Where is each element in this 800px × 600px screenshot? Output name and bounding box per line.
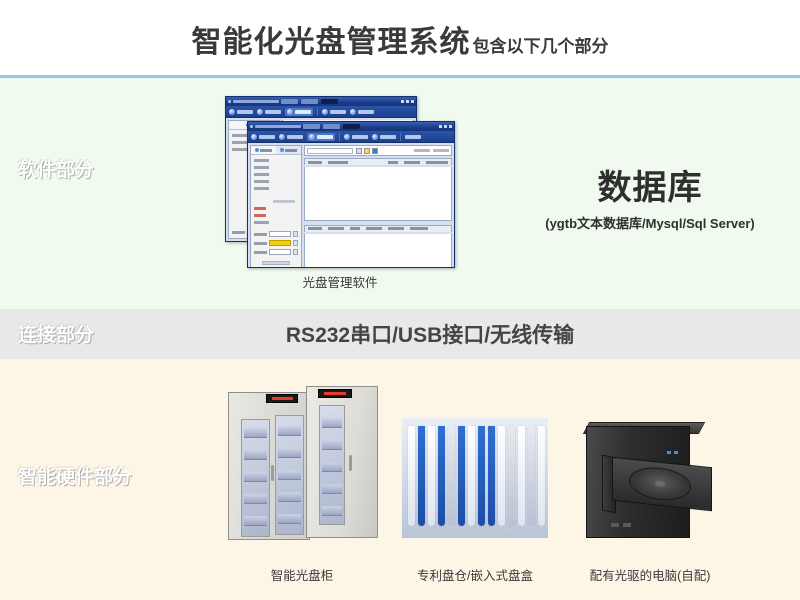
- power-button[interactable]: [611, 523, 619, 527]
- grid-header-top: [304, 158, 452, 165]
- grid-column-header: [404, 161, 420, 164]
- grid-header-bottom: [304, 225, 452, 232]
- panel-field-label-required: [254, 214, 266, 217]
- app-window-frame: [247, 121, 455, 268]
- minimize-icon[interactable]: [439, 125, 442, 128]
- cabinet-shelf: [322, 506, 342, 516]
- cabinet-shelf: [244, 494, 267, 504]
- panel-input-label: [232, 231, 245, 234]
- maximize-icon[interactable]: [406, 100, 409, 103]
- cabinet-handle: [271, 465, 274, 481]
- status-label: [433, 149, 449, 152]
- refresh-icon[interactable]: [372, 148, 378, 154]
- computer-indicator-lights: [667, 451, 678, 454]
- window-controls[interactable]: [439, 125, 452, 128]
- disc-slot: [418, 426, 425, 526]
- toolbar-button[interactable]: [229, 109, 253, 115]
- import-icon: [251, 134, 257, 140]
- window-titlebar: [226, 97, 416, 106]
- window-title-text: [255, 125, 301, 128]
- app-window-front: [247, 121, 455, 268]
- cabinet-right: [306, 386, 378, 538]
- data-grid-top[interactable]: [304, 167, 452, 221]
- cabinet-shelf: [322, 418, 342, 428]
- export-icon: [279, 134, 285, 140]
- grid-column-header: [388, 227, 404, 230]
- panel-field-label: [254, 173, 269, 176]
- window-titlebar: [248, 122, 454, 131]
- panel-field-label: [232, 148, 247, 151]
- toolbar-icon: [322, 109, 328, 115]
- window-tab[interactable]: [281, 99, 298, 104]
- cabinet-glass-door: [275, 415, 304, 535]
- search-icon: [350, 109, 356, 115]
- window-tab-selected[interactable]: [321, 99, 338, 104]
- toolbar-separator: [339, 133, 340, 141]
- computer-front-buttons: [611, 523, 631, 527]
- cabinet-shelf: [244, 450, 267, 460]
- toolbar-button[interactable]: [350, 109, 374, 115]
- drive-spindle: [655, 480, 665, 487]
- folder-icon[interactable]: [364, 148, 370, 154]
- window-icon: [228, 100, 231, 103]
- cabinet-shelf: [322, 484, 342, 494]
- grid-column-header: [328, 227, 344, 230]
- cabinet-shelf: [244, 428, 267, 438]
- cabinet-shelf: [278, 492, 301, 502]
- panel-field-label: [254, 221, 269, 224]
- activity-led-icon: [674, 451, 678, 454]
- toolbar-button-label: [287, 135, 303, 139]
- search-meta-text: [414, 149, 449, 152]
- hardware-caption-cartridge: 专利盘仓/嵌入式盘盒: [395, 565, 555, 584]
- toolbar-button-label: [358, 110, 374, 114]
- search-icon: [372, 134, 378, 140]
- photo-background: [222, 382, 382, 550]
- filter-icon[interactable]: [356, 148, 362, 154]
- toolbar-button-active[interactable]: [307, 133, 335, 141]
- disc-cabinet-photo: [222, 382, 382, 550]
- panel-tabstrip: [251, 146, 301, 155]
- window-content-area: [304, 145, 452, 268]
- grid-column-header: [308, 161, 322, 164]
- record-count-label: [414, 149, 430, 152]
- panel-hint-text: [273, 200, 295, 203]
- cabinet-shelf: [278, 514, 301, 524]
- close-icon[interactable]: [411, 100, 414, 103]
- toolbar-button-search[interactable]: [372, 134, 396, 140]
- cabinet-shelf: [244, 516, 267, 526]
- panel-tab-icon: [255, 148, 259, 152]
- panel-input-row: [254, 249, 298, 255]
- disc-slot: [488, 426, 495, 526]
- panel-input-label: [254, 242, 267, 245]
- toolbar-button-label: [265, 110, 281, 114]
- disc-icon: [309, 134, 315, 140]
- grid-column-header: [366, 227, 382, 230]
- disc-slot: [408, 426, 415, 526]
- disc-slot: [468, 426, 475, 526]
- disc-slot: [448, 426, 455, 526]
- page-subtitle: 包含以下几个部分: [473, 32, 609, 57]
- disc-slot: [518, 426, 525, 526]
- window-tab[interactable]: [301, 99, 318, 104]
- panel-field-list: [251, 155, 301, 228]
- minimize-icon[interactable]: [401, 100, 404, 103]
- disc-well: [629, 465, 691, 504]
- hardware-caption-cabinet: 智能光盘柜: [222, 565, 382, 584]
- window-tab[interactable]: [323, 124, 340, 129]
- disc-slot: [528, 426, 535, 526]
- gear-icon: [344, 134, 350, 140]
- toolbar-icon: [229, 109, 235, 115]
- toolbar-button-settings[interactable]: [344, 134, 368, 140]
- search-action-icons: [356, 148, 378, 154]
- toolbar-separator: [400, 133, 401, 141]
- panel-input-group: [251, 228, 301, 258]
- toolbar-button-label: [295, 110, 311, 114]
- search-input[interactable]: [307, 148, 353, 154]
- reset-button[interactable]: [623, 523, 631, 527]
- close-icon[interactable]: [449, 125, 452, 128]
- disc-slot: [498, 426, 505, 526]
- panel-field-label: [232, 134, 247, 137]
- window-title-text: [233, 100, 279, 103]
- window-tab-selected[interactable]: [343, 124, 360, 129]
- window-toolbar: [248, 131, 454, 143]
- window-body: [248, 143, 454, 268]
- toolbar-button-label: [352, 135, 368, 139]
- cabinet-shelf: [278, 470, 301, 480]
- panel-input-row: [254, 231, 298, 237]
- toolbar-button-exit[interactable]: [405, 135, 421, 139]
- toolbar-button-label: [237, 110, 253, 114]
- grid-column-header: [410, 227, 428, 230]
- window-tabstrip: [281, 99, 338, 104]
- header-title-group: 智能化光盘管理系统 包含以下几个部分: [192, 17, 609, 61]
- toolbar-button-label: [317, 135, 333, 139]
- toolbar-button-label: [380, 135, 396, 139]
- panel-picker-button[interactable]: [293, 249, 298, 255]
- grid-column-header: [328, 161, 348, 164]
- hardware-band-label: 智能硬件部分: [18, 462, 132, 489]
- window-controls[interactable]: [401, 100, 414, 103]
- cabinet-shelf: [244, 472, 267, 482]
- panel-tab-label: [260, 149, 272, 152]
- panel-tab-advanced[interactable]: [276, 146, 301, 154]
- cabinet-handle: [349, 455, 352, 471]
- window-tabstrip: [303, 124, 360, 129]
- panel-field-label: [232, 141, 247, 144]
- panel-field-label: [254, 187, 269, 190]
- panel-input-label: [254, 233, 267, 236]
- toolbar-separator: [317, 108, 318, 116]
- software-band-label: 软件部分: [18, 155, 94, 182]
- power-led-icon: [667, 451, 671, 454]
- content-search-bar: [304, 145, 452, 156]
- cabinet-glass-door: [319, 405, 345, 525]
- panel-field-label: [254, 166, 269, 169]
- panel-tab-basic[interactable]: [251, 146, 276, 154]
- led-segment: [272, 397, 293, 400]
- panel-submit-button[interactable]: [262, 261, 290, 265]
- toolbar-button-label: [330, 110, 346, 114]
- page-header: 智能化光盘管理系统 包含以下几个部分: [0, 0, 800, 78]
- panel-text-input[interactable]: [269, 231, 291, 237]
- panel-text-input[interactable]: [269, 249, 291, 255]
- window-toolbar: [226, 106, 416, 118]
- panel-tab-label: [285, 149, 297, 152]
- cabinet-shelf: [322, 440, 342, 450]
- disc-slot: [458, 426, 465, 526]
- cabinet-left: [228, 392, 310, 540]
- maximize-icon[interactable]: [444, 125, 447, 128]
- page-title: 智能化光盘管理系统: [192, 17, 471, 61]
- window-icon: [250, 125, 253, 128]
- infographic-page: 智能化光盘管理系统 包含以下几个部分 软件部分: [0, 0, 800, 600]
- disc-slot: [538, 426, 545, 526]
- panel-tab-icon: [280, 148, 284, 152]
- computer-with-optical-drive-photo: [572, 418, 724, 542]
- hardware-caption-computer: 配有光驱的电脑(自配): [565, 565, 735, 584]
- cabinet-shelf: [278, 426, 301, 436]
- toolbar-button[interactable]: [322, 109, 346, 115]
- database-subtitle: (ygtb文本数据库/Mysql/Sql Server): [500, 213, 800, 232]
- data-grid-bottom[interactable]: [304, 234, 452, 268]
- toolbar-button-active[interactable]: [285, 108, 313, 116]
- panel-input-row-highlighted: [254, 240, 298, 246]
- disc-slot: [428, 426, 435, 526]
- disc-slot: [478, 426, 485, 526]
- led-segment: [324, 392, 346, 395]
- toolbar-button[interactable]: [257, 109, 281, 115]
- toolbar-icon: [257, 109, 263, 115]
- cabinet-led-display: [318, 389, 352, 398]
- database-block: 数据库 (ygtb文本数据库/Mysql/Sql Server): [500, 160, 800, 232]
- database-title: 数据库: [500, 160, 800, 209]
- grid-column-header: [426, 161, 448, 164]
- toolbar-button-export[interactable]: [279, 134, 303, 140]
- toolbar-icon: [287, 109, 293, 115]
- cabinet-led-display: [266, 394, 298, 403]
- cabinet-shelf: [322, 462, 342, 472]
- disc-cartridge-photo: [402, 418, 548, 538]
- toolbar-button-label: [405, 135, 421, 139]
- panel-picker-button[interactable]: [293, 240, 298, 246]
- panel-field-label: [254, 180, 269, 183]
- toolbar-button-import[interactable]: [251, 134, 275, 140]
- panel-field-label-required: [254, 207, 266, 210]
- cabinet-shelf: [278, 448, 301, 458]
- panel-field-label: [254, 159, 269, 162]
- toolbar-button-label: [259, 135, 275, 139]
- cabinet-glass-door: [241, 419, 270, 537]
- window-tab[interactable]: [303, 124, 320, 129]
- window-side-panel: [250, 145, 302, 268]
- panel-picker-button[interactable]: [293, 231, 298, 237]
- grid-column-header: [388, 161, 398, 164]
- connection-interfaces-text: RS232串口/USB接口/无线传输: [0, 319, 800, 349]
- panel-text-input-highlighted[interactable]: [269, 240, 291, 246]
- disc-slot: [508, 426, 515, 526]
- grid-column-header: [308, 227, 322, 230]
- software-screenshot-caption: 光盘管理软件: [225, 272, 455, 291]
- grid-column-header: [350, 227, 360, 230]
- panel-input-label: [254, 251, 267, 254]
- disc-slot: [438, 426, 445, 526]
- software-screenshot-group: [225, 96, 455, 268]
